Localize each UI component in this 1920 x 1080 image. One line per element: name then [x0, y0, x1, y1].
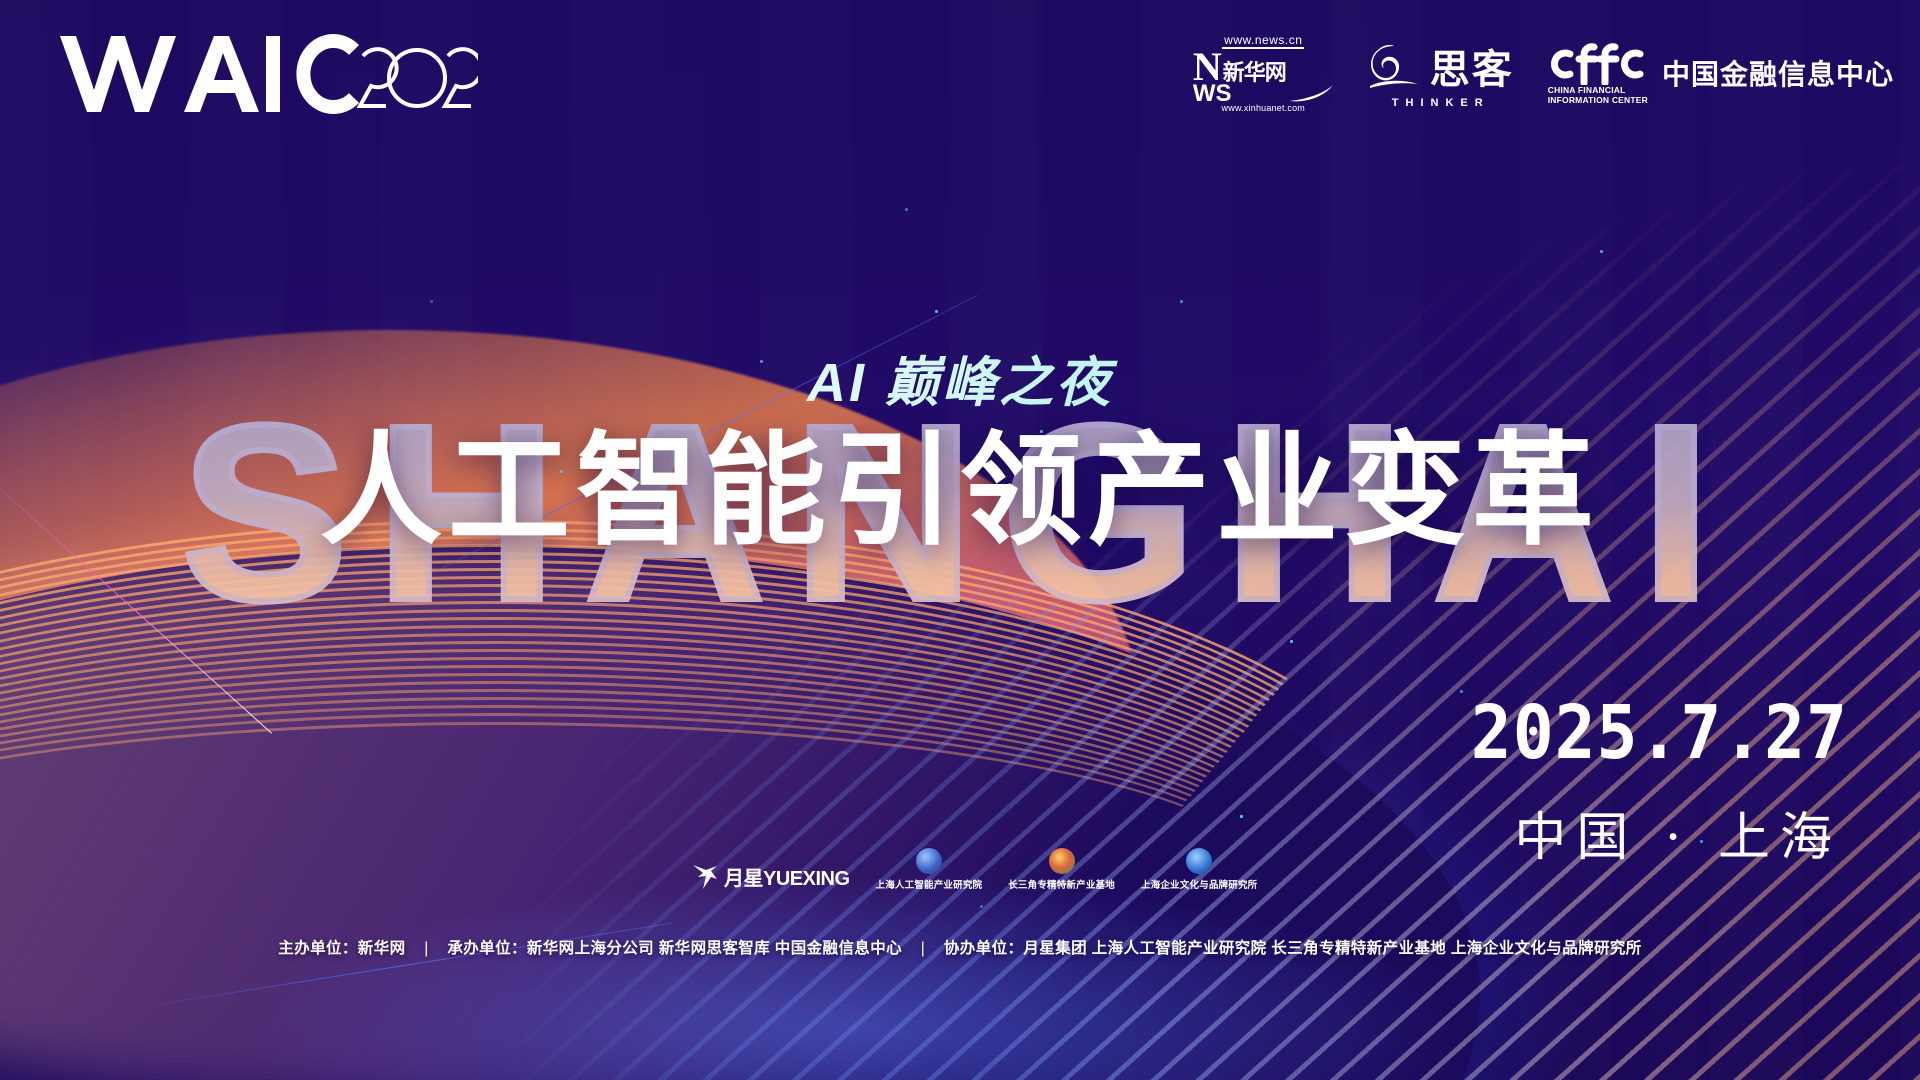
credits-coorganizer: 协办单位：月星集团 上海人工智能产业研究院 长三角专精特新产业基地 上海企业文化… [944, 940, 1642, 957]
yangtze-base-badge-icon [1049, 848, 1075, 874]
poster-canvas: SHANGHAI www.news.cn N [0, 0, 1920, 1080]
cfic-sub-line2: INFORMATION CENTER [1548, 95, 1648, 105]
xinhuanet-swoosh-icon [1288, 83, 1334, 103]
waic-logo [58, 30, 478, 114]
partner-label-ai-institute: 上海人工智能产业研究院 [876, 877, 983, 891]
thinker-cn-label: 思客 [1430, 37, 1514, 95]
cfic-mark-icon [1548, 41, 1644, 85]
hero-kicker: AI 巅峰之夜 [0, 338, 1920, 417]
credits-separator-1: | [410, 940, 442, 957]
brand-institute-badge-icon [1186, 848, 1212, 874]
hero-headline: 人工智能引领产业变革 [0, 430, 1920, 552]
partner-label-brand-institute: 上海企业文化与品牌研究所 [1141, 877, 1257, 891]
waic-logo-icon [58, 30, 478, 114]
event-city: 中国 · 上海 [1514, 795, 1842, 870]
cfic-logo: CHINA FINANCIAL INFORMATION CENTER 中国金融信… [1548, 41, 1894, 106]
partner-logo-yangtze-base: 长三角专精特新产业基地 [1008, 848, 1115, 891]
event-date: 2025.7.27 [1471, 690, 1848, 776]
partner-label-yuexing: 月星YUEXING [724, 862, 850, 891]
partner-logo-yuexing: 月星YUEXING [690, 862, 850, 891]
partner-logo-strip: 月星YUEXING 上海人工智能产业研究院 长三角专精特新产业基地 上海企业文化… [690, 848, 1257, 891]
xinhuanet-mark-ws: WS [1193, 84, 1232, 103]
partner-logo-ai-institute: 上海人工智能产业研究院 [876, 848, 983, 891]
sponsor-logo-row: www.news.cn N 新华网 WS www.xinhuanet.com [1193, 34, 1894, 113]
thinker-logo: 思客 THINKER [1368, 37, 1514, 109]
xinhuanet-mark-cn: 新华网 [1223, 62, 1286, 84]
xinhuanet-mark-letter: N [1193, 51, 1222, 84]
credits-organizer: 承办单位：新华网上海分公司 新华网思客智库 中国金融信息中心 [447, 940, 902, 957]
partner-label-yangtze-base: 长三角专精特新产业基地 [1008, 877, 1115, 891]
ai-institute-badge-icon [916, 848, 942, 874]
credits-separator-2: | [907, 940, 939, 957]
thinker-en-label: THINKER [1392, 97, 1490, 109]
xinhuanet-top-url: www.news.cn [1222, 34, 1304, 49]
cfic-cn-label: 中国金融信息中心 [1662, 53, 1894, 93]
partner-logo-brand-institute: 上海企业文化与品牌研究所 [1141, 848, 1257, 891]
xinhuanet-bottom-url: www.xinhuanet.com [1222, 104, 1305, 113]
thinker-swirl-icon [1368, 43, 1420, 89]
credits-host: 主办单位：新华网 [278, 940, 405, 957]
credits-line: 主办单位：新华网 | 承办单位：新华网上海分公司 新华网思客智库 中国金融信息中… [0, 936, 1920, 958]
yuexing-logo-icon [690, 863, 720, 891]
xinhuanet-logo: www.news.cn N 新华网 WS www.xinhuanet.com [1193, 34, 1334, 113]
cfic-sub-line1: CHINA FINANCIAL [1548, 85, 1648, 95]
